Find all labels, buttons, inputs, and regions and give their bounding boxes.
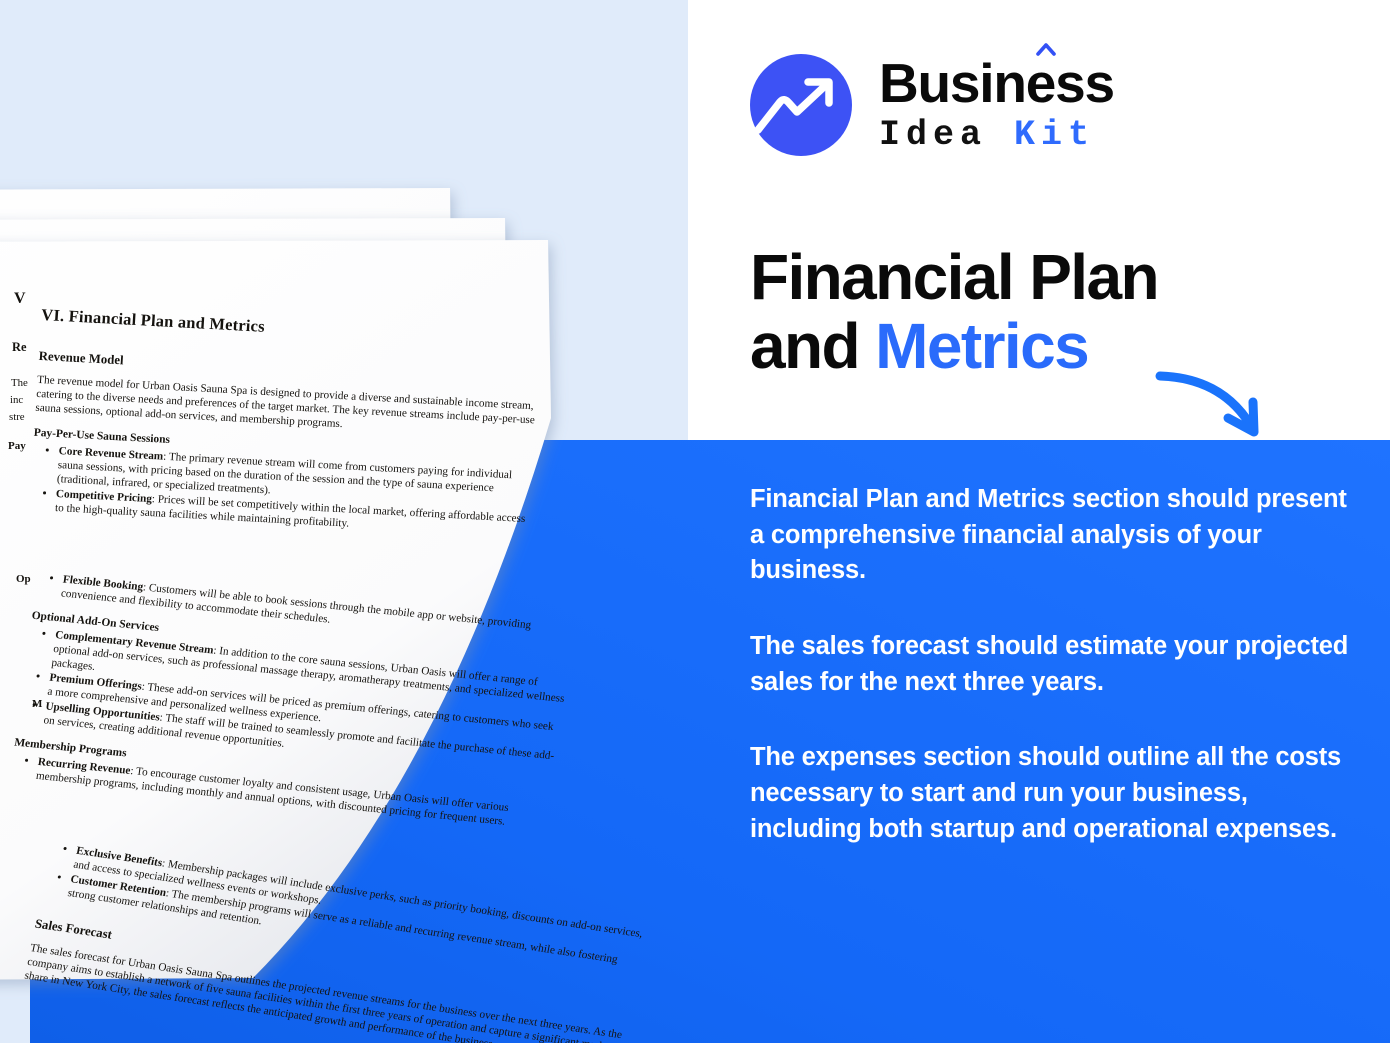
brand-name-kit: Kit [1014,115,1095,155]
growth-chart-arrow-icon [750,54,852,156]
description-paragraph-2: The sales forecast should estimate your … [750,629,1350,700]
brand-wordmark: Business Idea Kit [879,56,1114,155]
curved-down-right-arrow-icon [1150,352,1290,447]
page-title-line2-accent: Metrics [875,310,1088,382]
document-body: VI. Financial Plan and Metrics Revenue M… [0,150,560,890]
brand-name-line1: Business [879,56,1114,111]
page-title-line1: Financial Plan [750,241,1158,313]
document-body-upper: VI. Financial Plan and Metrics Revenue M… [28,305,546,552]
document-body-middle: Flexible Booking: Customers will be able… [8,570,576,844]
brand-name-idea: Idea [879,115,987,155]
description-paragraph-3: The expenses section should outline all … [750,740,1350,847]
brand-logo[interactable]: Business Idea Kit [750,54,1114,156]
slide-canvas: V Re The inc stre Pay Op M VI. Financial… [0,0,1390,1043]
page-title-line2-prefix: and [750,310,875,382]
circumflex-accent-icon [1036,42,1056,56]
description-text: Financial Plan and Metrics section shoul… [750,482,1350,848]
brand-name-line2: Idea Kit [879,116,1114,155]
description-paragraph-1: Financial Plan and Metrics section shoul… [750,482,1350,589]
document-title: VI. Financial Plan and Metrics [41,305,547,353]
